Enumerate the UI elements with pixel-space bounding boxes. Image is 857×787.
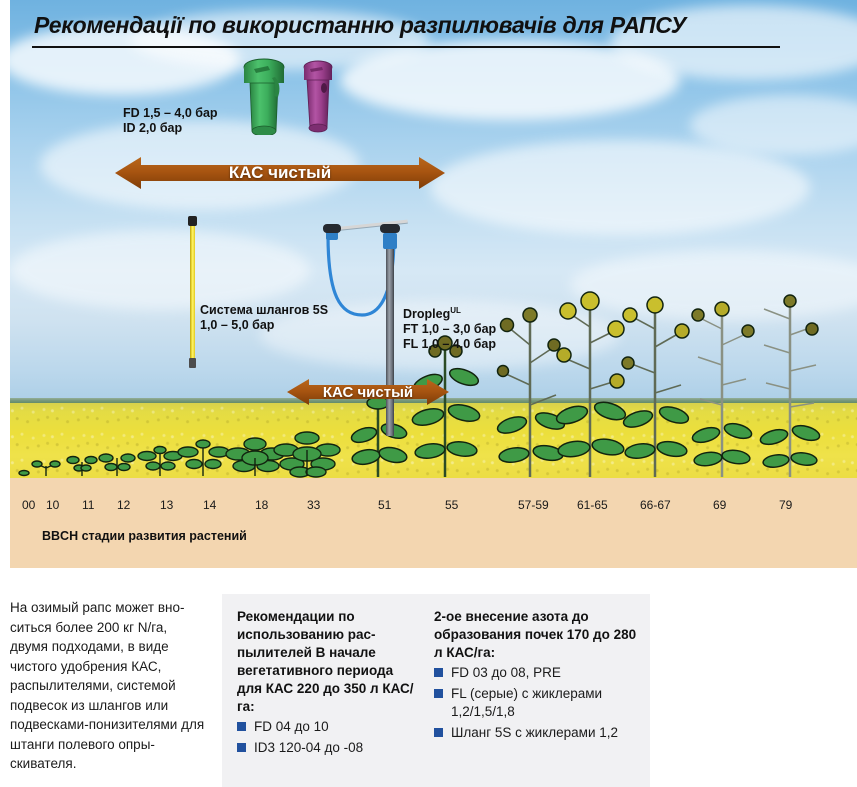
- bbch-stage-label: 11: [82, 498, 94, 512]
- arrow-kas-bottom: КАС чистый: [287, 377, 449, 407]
- bullet-square-icon: [434, 728, 443, 737]
- hose-system-line1: Система шлангов 5S: [200, 303, 328, 318]
- bbch-stage-label: 69: [713, 498, 726, 512]
- bullet-square-icon: [434, 689, 443, 698]
- hose-system-line2: 1,0 – 5,0 бар: [200, 318, 328, 333]
- hose-5s-rod: [190, 222, 195, 362]
- recommendation-item: FL (серые) с жиклерами 1,2/1,5/1,8: [434, 685, 639, 722]
- hose-cap-icon: [323, 224, 341, 233]
- dropleg-label: DroplegUL FT 1,0 – 3,0 бар FL 1,0 – 4,0 …: [403, 303, 496, 352]
- bbch-stage-label: 51: [378, 498, 391, 512]
- recommendation-column-second-application: 2-ое внесение азота до образования почек…: [434, 608, 639, 742]
- nozzle-pressure-label: FD 1,5 – 4,0 бар ID 2,0 бар: [123, 106, 218, 136]
- bbch-stage-label: 18: [255, 498, 268, 512]
- dropleg-line2: FT 1,0 – 3,0 бар: [403, 322, 496, 337]
- cloud: [10, 230, 310, 310]
- boom-cap-icon: [380, 224, 400, 233]
- recommendation-column-first-application: Рекомендации по использованию рас-пылите…: [237, 608, 415, 757]
- purple-nozzle-icon: [302, 58, 334, 134]
- bullet-square-icon: [237, 722, 246, 731]
- title-underline: [32, 46, 780, 48]
- bbch-stage-label: 33: [307, 498, 320, 512]
- hose-system-label: Система шлангов 5S 1,0 – 5,0 бар: [200, 303, 328, 333]
- bbch-stage-label: 12: [117, 498, 130, 512]
- bbch-stage-label: 00: [22, 498, 35, 512]
- recommendation-item-label: FD 03 до 08, PRE: [451, 665, 561, 680]
- page-title: Рекомендації по використанню разпилювачі…: [34, 12, 686, 39]
- recommendation-item: Шланг 5S с жиклерами 1,2: [434, 724, 639, 743]
- infographic-root: FD 1,5 – 4,0 бар ID 2,0 бар КАС чистый С…: [0, 0, 857, 787]
- bbch-stage-label: 66-67: [640, 498, 671, 512]
- bbch-stage-label: 57-59: [518, 498, 549, 512]
- bbch-stage-label: 10: [46, 498, 59, 512]
- second-application-heading: 2-ое внесение азота до образования почек…: [434, 608, 639, 662]
- second-application-list: FD 03 до 08, PREFL (серые) с жиклерами 1…: [434, 664, 639, 742]
- recommendation-item-label: FL (серые) с жиклерами 1,2/1,5/1,8: [451, 686, 602, 720]
- dropleg-superscript: UL: [450, 306, 461, 315]
- recommendation-item-label: FD 04 до 10: [254, 719, 329, 734]
- dropleg-name: Dropleg: [403, 307, 450, 321]
- recommendation-item: FD 04 до 10: [237, 718, 415, 737]
- recommendation-item: FD 03 до 08, PRE: [434, 664, 639, 683]
- bullet-square-icon: [237, 743, 246, 752]
- double-arrow-shape: [115, 155, 445, 191]
- cloud: [430, 140, 810, 235]
- recommendation-item-label: ID3 120-04 до -08: [254, 740, 363, 755]
- bbch-stage-label: 61-65: [577, 498, 608, 512]
- dropleg-name-line: DroplegUL: [403, 303, 496, 322]
- nozzle-pressure-line2: ID 2,0 бар: [123, 121, 218, 136]
- bbch-caption: BBCH стадии развития растений: [42, 529, 247, 543]
- bbch-stage-label: 14: [203, 498, 216, 512]
- green-nozzle-icon: [242, 57, 286, 135]
- nozzle-pressure-line1: FD 1,5 – 4,0 бар: [123, 106, 218, 121]
- bbch-stage-label: 55: [445, 498, 458, 512]
- double-arrow-shape-small: [287, 377, 449, 407]
- recommendation-item-label: Шланг 5S с жиклерами 1,2: [451, 725, 618, 740]
- dropleg-clamp: [383, 233, 397, 249]
- hose-5s-foot: [189, 358, 196, 368]
- recommendations-panel: Рекомендации по использованию рас-пылите…: [222, 594, 650, 787]
- bbch-stage-label: 13: [160, 498, 173, 512]
- bbch-stage-label: 79: [779, 498, 792, 512]
- first-application-list: FD 04 до 10ID3 120-04 до -08: [237, 718, 415, 757]
- bbch-scale: 0010111213141833515557-5961-6566-676979: [10, 498, 857, 518]
- bullet-square-icon: [434, 668, 443, 677]
- dropleg-line3: FL 1,0 – 4,0 бар: [403, 337, 496, 352]
- footer-left-paragraph: На озимый рапс может вно-ситься более 20…: [10, 598, 206, 774]
- hose-5s-tip-icon: [188, 216, 197, 226]
- arrow-kas-top: КАС чистый: [115, 155, 445, 191]
- illustration-panel: FD 1,5 – 4,0 бар ID 2,0 бар КАС чистый С…: [10, 0, 857, 568]
- ground-strip: [10, 478, 857, 568]
- first-application-heading: Рекомендации по использованию рас-пылите…: [237, 608, 415, 716]
- recommendation-item: ID3 120-04 до -08: [237, 739, 415, 758]
